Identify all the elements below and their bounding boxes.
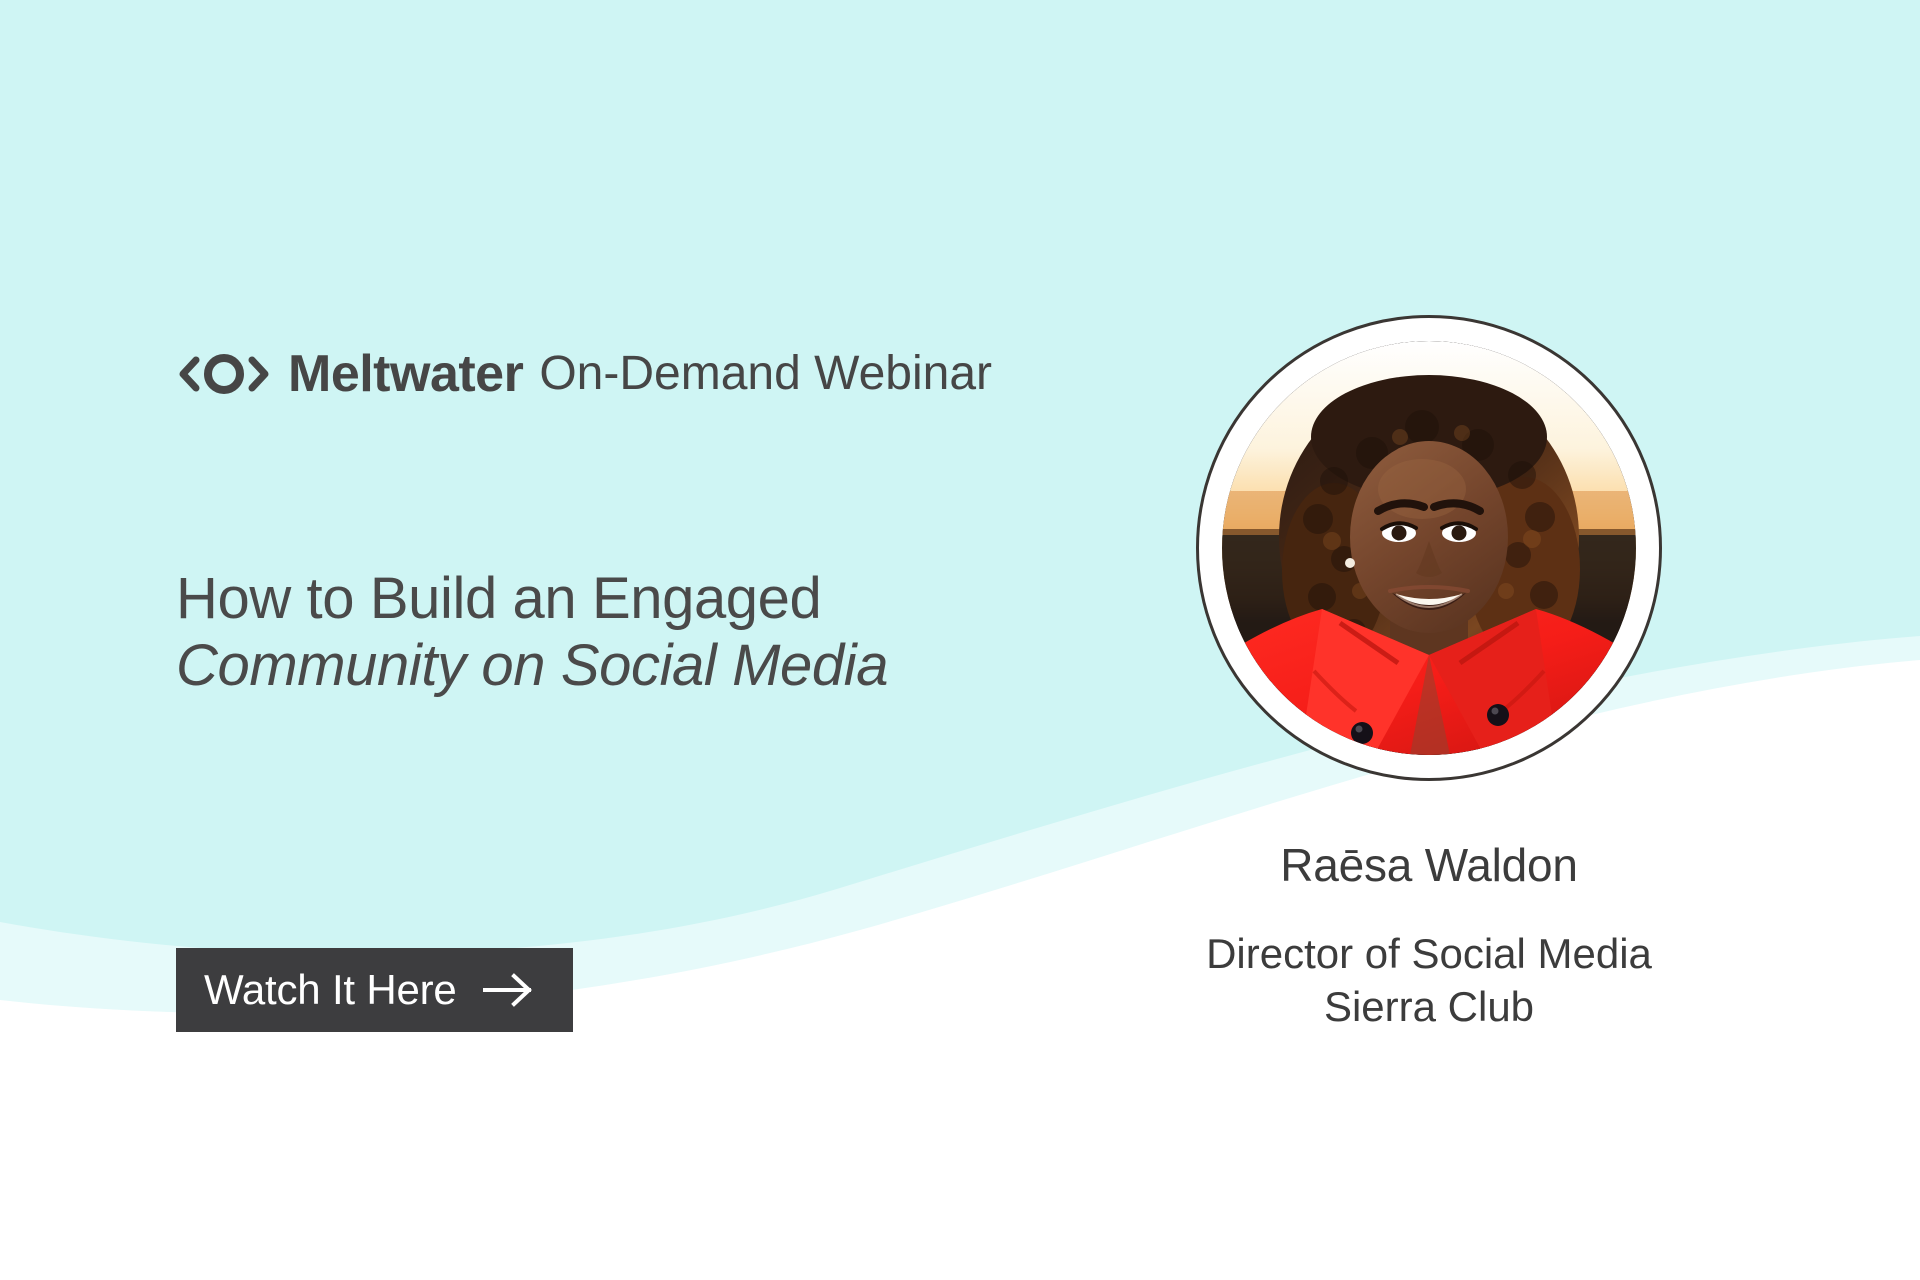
brand-subtitle: On-Demand Webinar [539,350,992,398]
headline-line-1: How to Build an Engaged [176,565,888,632]
speaker-avatar [1196,315,1662,781]
speaker-name: Raēsa Waldon [1159,840,1699,891]
brand-row: Meltwater On-Demand Webinar [176,348,992,400]
speaker-role: Director of Social Media [1159,927,1699,981]
webinar-promo-banner: Meltwater On-Demand Webinar How to Build… [0,0,1920,1280]
watch-it-here-button[interactable]: Watch It Here [176,948,573,1032]
meltwater-eye-icon [176,350,272,398]
avatar-photo [1222,341,1636,755]
arrow-right-icon [483,973,535,1007]
headline-line-2: Community on Social Media [176,632,888,699]
speaker-organization: Sierra Club [1159,980,1699,1034]
brand-name: Meltwater [288,348,523,400]
page-title: How to Build an Engaged Community on Soc… [176,565,888,700]
speaker-info: Raēsa Waldon Director of Social Media Si… [1159,840,1699,1034]
cta-label: Watch It Here [204,969,457,1011]
